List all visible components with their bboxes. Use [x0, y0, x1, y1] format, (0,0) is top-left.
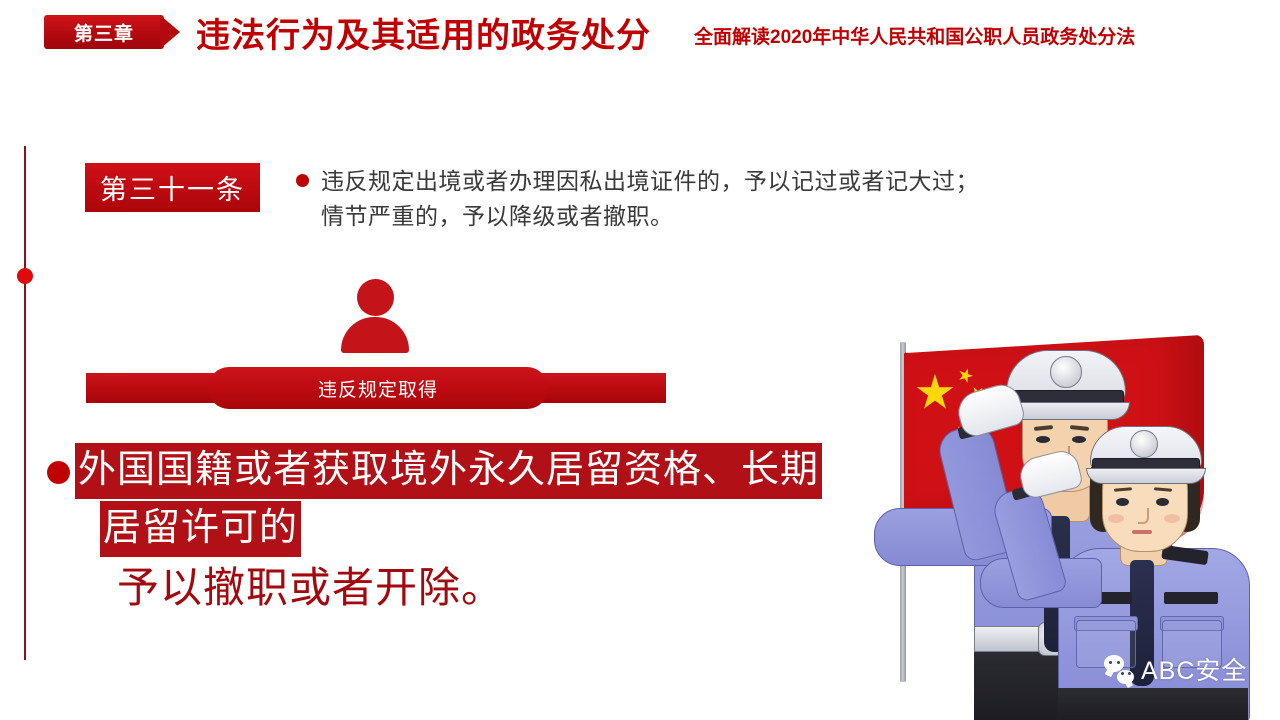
- female-officer-mouth: [1132, 530, 1152, 534]
- clause-line-2: 情节严重的，予以降级或者撤职。: [321, 199, 1121, 234]
- female-officer-pants: [1058, 688, 1248, 720]
- timeline-line: [24, 146, 26, 660]
- female-officer-cap-badge-icon: [1130, 430, 1158, 458]
- female-officer-eye-right: [1156, 498, 1169, 506]
- header-subtitle: 全面解读2020年中华人民共和国公职人员政务处分法: [694, 22, 1135, 49]
- female-officer-nose: [1138, 508, 1149, 524]
- wechat-dot-4: [1128, 672, 1131, 675]
- ribbon-banner: 违反规定取得: [86, 373, 666, 403]
- page-title: 违法行为及其适用的政务处分: [196, 8, 651, 57]
- ribbon-label: 违反规定取得: [208, 367, 548, 409]
- female-officer-cap-brim: [1086, 468, 1206, 484]
- person-icon: [341, 279, 409, 351]
- chapter-arrow-icon: [160, 15, 180, 49]
- person-head-shape: [357, 279, 394, 316]
- watermark-text: ABC安全: [1141, 651, 1247, 687]
- statement-body: 外国国籍或者获取境外永久居留资格、长期 居留许可的 予以撤职或者开除。: [75, 443, 835, 615]
- wechat-dot-3: [1121, 672, 1124, 675]
- wechat-bubble-small: [1117, 670, 1134, 684]
- male-officer-cap-badge-icon: [1050, 356, 1082, 388]
- person-body-shape: [341, 317, 409, 353]
- wechat-dot-1: [1109, 661, 1112, 664]
- male-officer-eye-left: [1036, 436, 1050, 443]
- slide-header: 第三章 违法行为及其适用的政务处分 全面解读2020年中华人民共和国公职人员政务…: [0, 0, 1280, 78]
- female-officer-badge-tag-right: [1164, 592, 1218, 604]
- male-officer-eye-right: [1072, 436, 1086, 443]
- statement-highlight-line-2: 居留许可的: [100, 501, 301, 557]
- statement-bullet-icon: [47, 461, 70, 484]
- male-officer-cap-brim: [1006, 402, 1130, 420]
- article-number-box: 第三十一条: [85, 163, 260, 212]
- slide-canvas: 第三章 违法行为及其适用的政务处分 全面解读2020年中华人民共和国公职人员政务…: [0, 0, 1280, 720]
- female-officer-cheek-right: [1164, 514, 1180, 523]
- clause-line-1: 违反规定出境或者办理因私出境证件的，予以记过或者记大过；: [321, 164, 1121, 199]
- clause-bullet-icon: [296, 174, 309, 187]
- wechat-icon: [1104, 654, 1134, 684]
- female-officer-cheek-left: [1108, 514, 1124, 523]
- timeline-dot-icon: [17, 268, 33, 284]
- clause-text: 违反规定出境或者办理因私出境证件的，予以记过或者记大过； 情节严重的，予以降级或…: [321, 164, 1121, 234]
- statement-plain-line: 予以撤职或者开除。: [117, 561, 835, 615]
- wechat-dot-2: [1117, 661, 1120, 664]
- chapter-badge: 第三章: [44, 15, 164, 49]
- watermark: ABC安全: [1104, 651, 1247, 687]
- female-officer-eye-left: [1116, 498, 1129, 506]
- wechat-bubble-large: [1104, 655, 1124, 672]
- statement-highlight-line-1: 外国国籍或者获取境外永久居留资格、长期: [75, 443, 822, 499]
